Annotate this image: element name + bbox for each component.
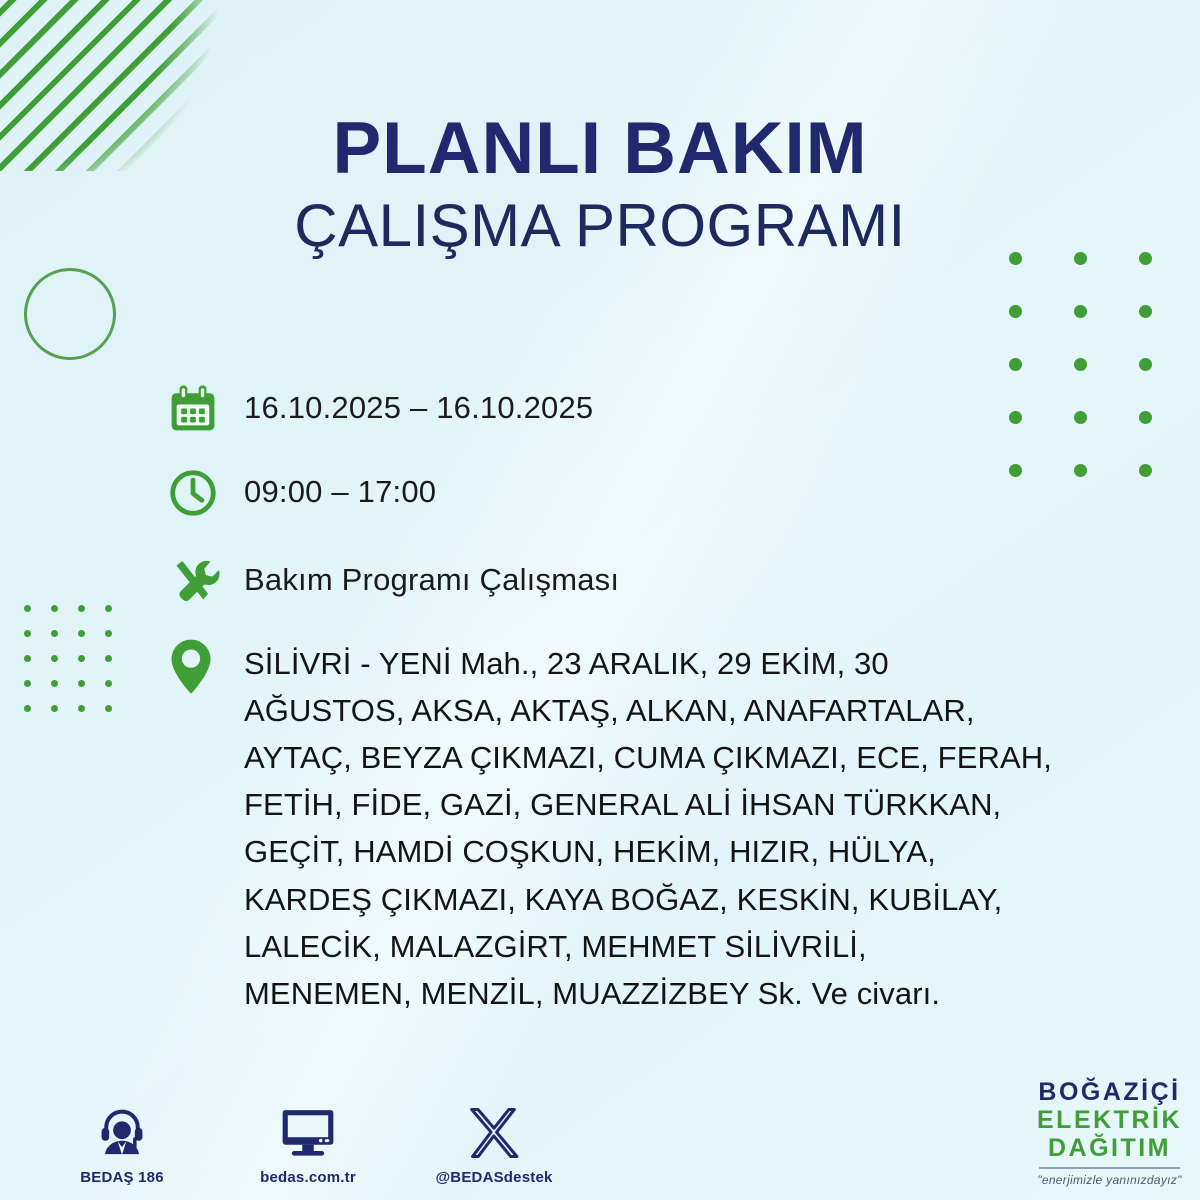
dot	[24, 705, 31, 712]
info-row-location: SİLİVRİ - YENİ Mah., 23 ARALIK, 29 EKİM,…	[166, 636, 1160, 1017]
contact-phone-label: BEDAŞ 186	[58, 1169, 186, 1186]
dot	[78, 605, 85, 612]
location-line: FETİH, FİDE, GAZİ, GENERAL ALİ İHSAN TÜR…	[244, 781, 1052, 828]
dot	[24, 630, 31, 637]
date-range-text: 16.10.2025 – 16.10.2025	[244, 380, 593, 423]
dot	[105, 705, 112, 712]
location-line: SİLİVRİ - YENİ Mah., 23 ARALIK, 29 EKİM,…	[244, 640, 1052, 687]
brand-divider	[1039, 1167, 1180, 1169]
location-line: AYTAÇ, BEYZA ÇIKMAZI, CUMA ÇIKMAZI, ECE,…	[244, 734, 1052, 781]
poster-header: PLANLI BAKIM ÇALIŞMA PROGRAMI	[0, 112, 1200, 257]
location-line: KARDEŞ ÇIKMAZI, KAYA BOĞAZ, KESKİN, KUBİ…	[244, 876, 1052, 923]
dot	[51, 655, 58, 662]
calendar-icon	[166, 380, 244, 442]
bedas-logo: BOĞAZİÇİ ELEKTRİK DAĞITIM "enerjimizle y…	[1037, 1080, 1182, 1186]
dot	[51, 680, 58, 687]
location-line: GEÇİT, HAMDİ COŞKUN, HEKİM, HIZIR, HÜLYA…	[244, 828, 1052, 875]
location-text: SİLİVRİ - YENİ Mah., 23 ARALIK, 29 EKİM,…	[244, 636, 1052, 1017]
info-row-time: 09:00 – 17:00	[166, 464, 1160, 526]
dot	[1009, 305, 1022, 318]
dot	[105, 655, 112, 662]
dot	[78, 680, 85, 687]
location-line: MENEMEN, MENZİL, MUAZZİZBEY Sk. Ve civar…	[244, 970, 1052, 1017]
poster-canvas: PLANLI BAKIM ÇALIŞMA PROGRAMI	[0, 0, 1200, 1200]
dot	[24, 655, 31, 662]
dot	[24, 680, 31, 687]
dot	[78, 655, 85, 662]
x-twitter-icon	[430, 1098, 558, 1160]
monitor-website-icon	[244, 1098, 372, 1160]
info-rows: 16.10.2025 – 16.10.2025 09:00 – 17:00	[166, 380, 1160, 1043]
info-row-date: 16.10.2025 – 16.10.2025	[166, 380, 1160, 442]
dot	[105, 630, 112, 637]
clock-icon	[166, 464, 244, 526]
dot	[51, 605, 58, 612]
dot	[105, 605, 112, 612]
dot	[24, 605, 31, 612]
location-pin-icon	[166, 636, 244, 698]
brand-tagline: "enerjimizle yanınızdayız"	[1037, 1174, 1182, 1186]
dot	[1009, 358, 1022, 371]
work-type-text: Bakım Programı Çalışması	[244, 552, 619, 595]
location-line: LALECİK, MALAZGİRT, MEHMET SİLİVRİLİ,	[244, 923, 1052, 970]
brand-line-elektrik: ELEKTRİK	[1037, 1108, 1182, 1133]
brand-line-bogazici: BOĞAZİÇİ	[1037, 1080, 1182, 1105]
footer-contacts: BEDAŞ 186 bedas.com.tr @B	[58, 1098, 558, 1186]
dot	[1139, 305, 1152, 318]
contact-x-label: @BEDASdestek	[430, 1169, 558, 1186]
contact-website-label: bedas.com.tr	[244, 1169, 372, 1186]
contact-x-social[interactable]: @BEDASdestek	[430, 1098, 558, 1186]
dot	[78, 630, 85, 637]
info-row-work-type: Bakım Programı Çalışması	[166, 552, 1160, 614]
dot	[51, 630, 58, 637]
contact-phone[interactable]: BEDAŞ 186	[58, 1098, 186, 1186]
dot	[1139, 358, 1152, 371]
page-title: PLANLI BAKIM	[0, 112, 1200, 186]
dot-grid-left-decoration	[14, 596, 122, 721]
location-line: AĞUSTOS, AKSA, AKTAŞ, ALKAN, ANAFARTALAR…	[244, 687, 1052, 734]
page-subtitle: ÇALIŞMA PROGRAMI	[0, 194, 1200, 257]
tools-icon	[166, 552, 244, 614]
dot	[1074, 358, 1087, 371]
dot	[1074, 305, 1087, 318]
brand-line-dagitim: DAĞITIM	[1037, 1136, 1182, 1161]
headset-support-icon	[58, 1098, 186, 1160]
circle-outline-decoration	[24, 268, 116, 360]
dot	[105, 680, 112, 687]
time-range-text: 09:00 – 17:00	[244, 464, 436, 507]
dot	[78, 705, 85, 712]
contact-website[interactable]: bedas.com.tr	[244, 1098, 372, 1186]
dot	[51, 705, 58, 712]
